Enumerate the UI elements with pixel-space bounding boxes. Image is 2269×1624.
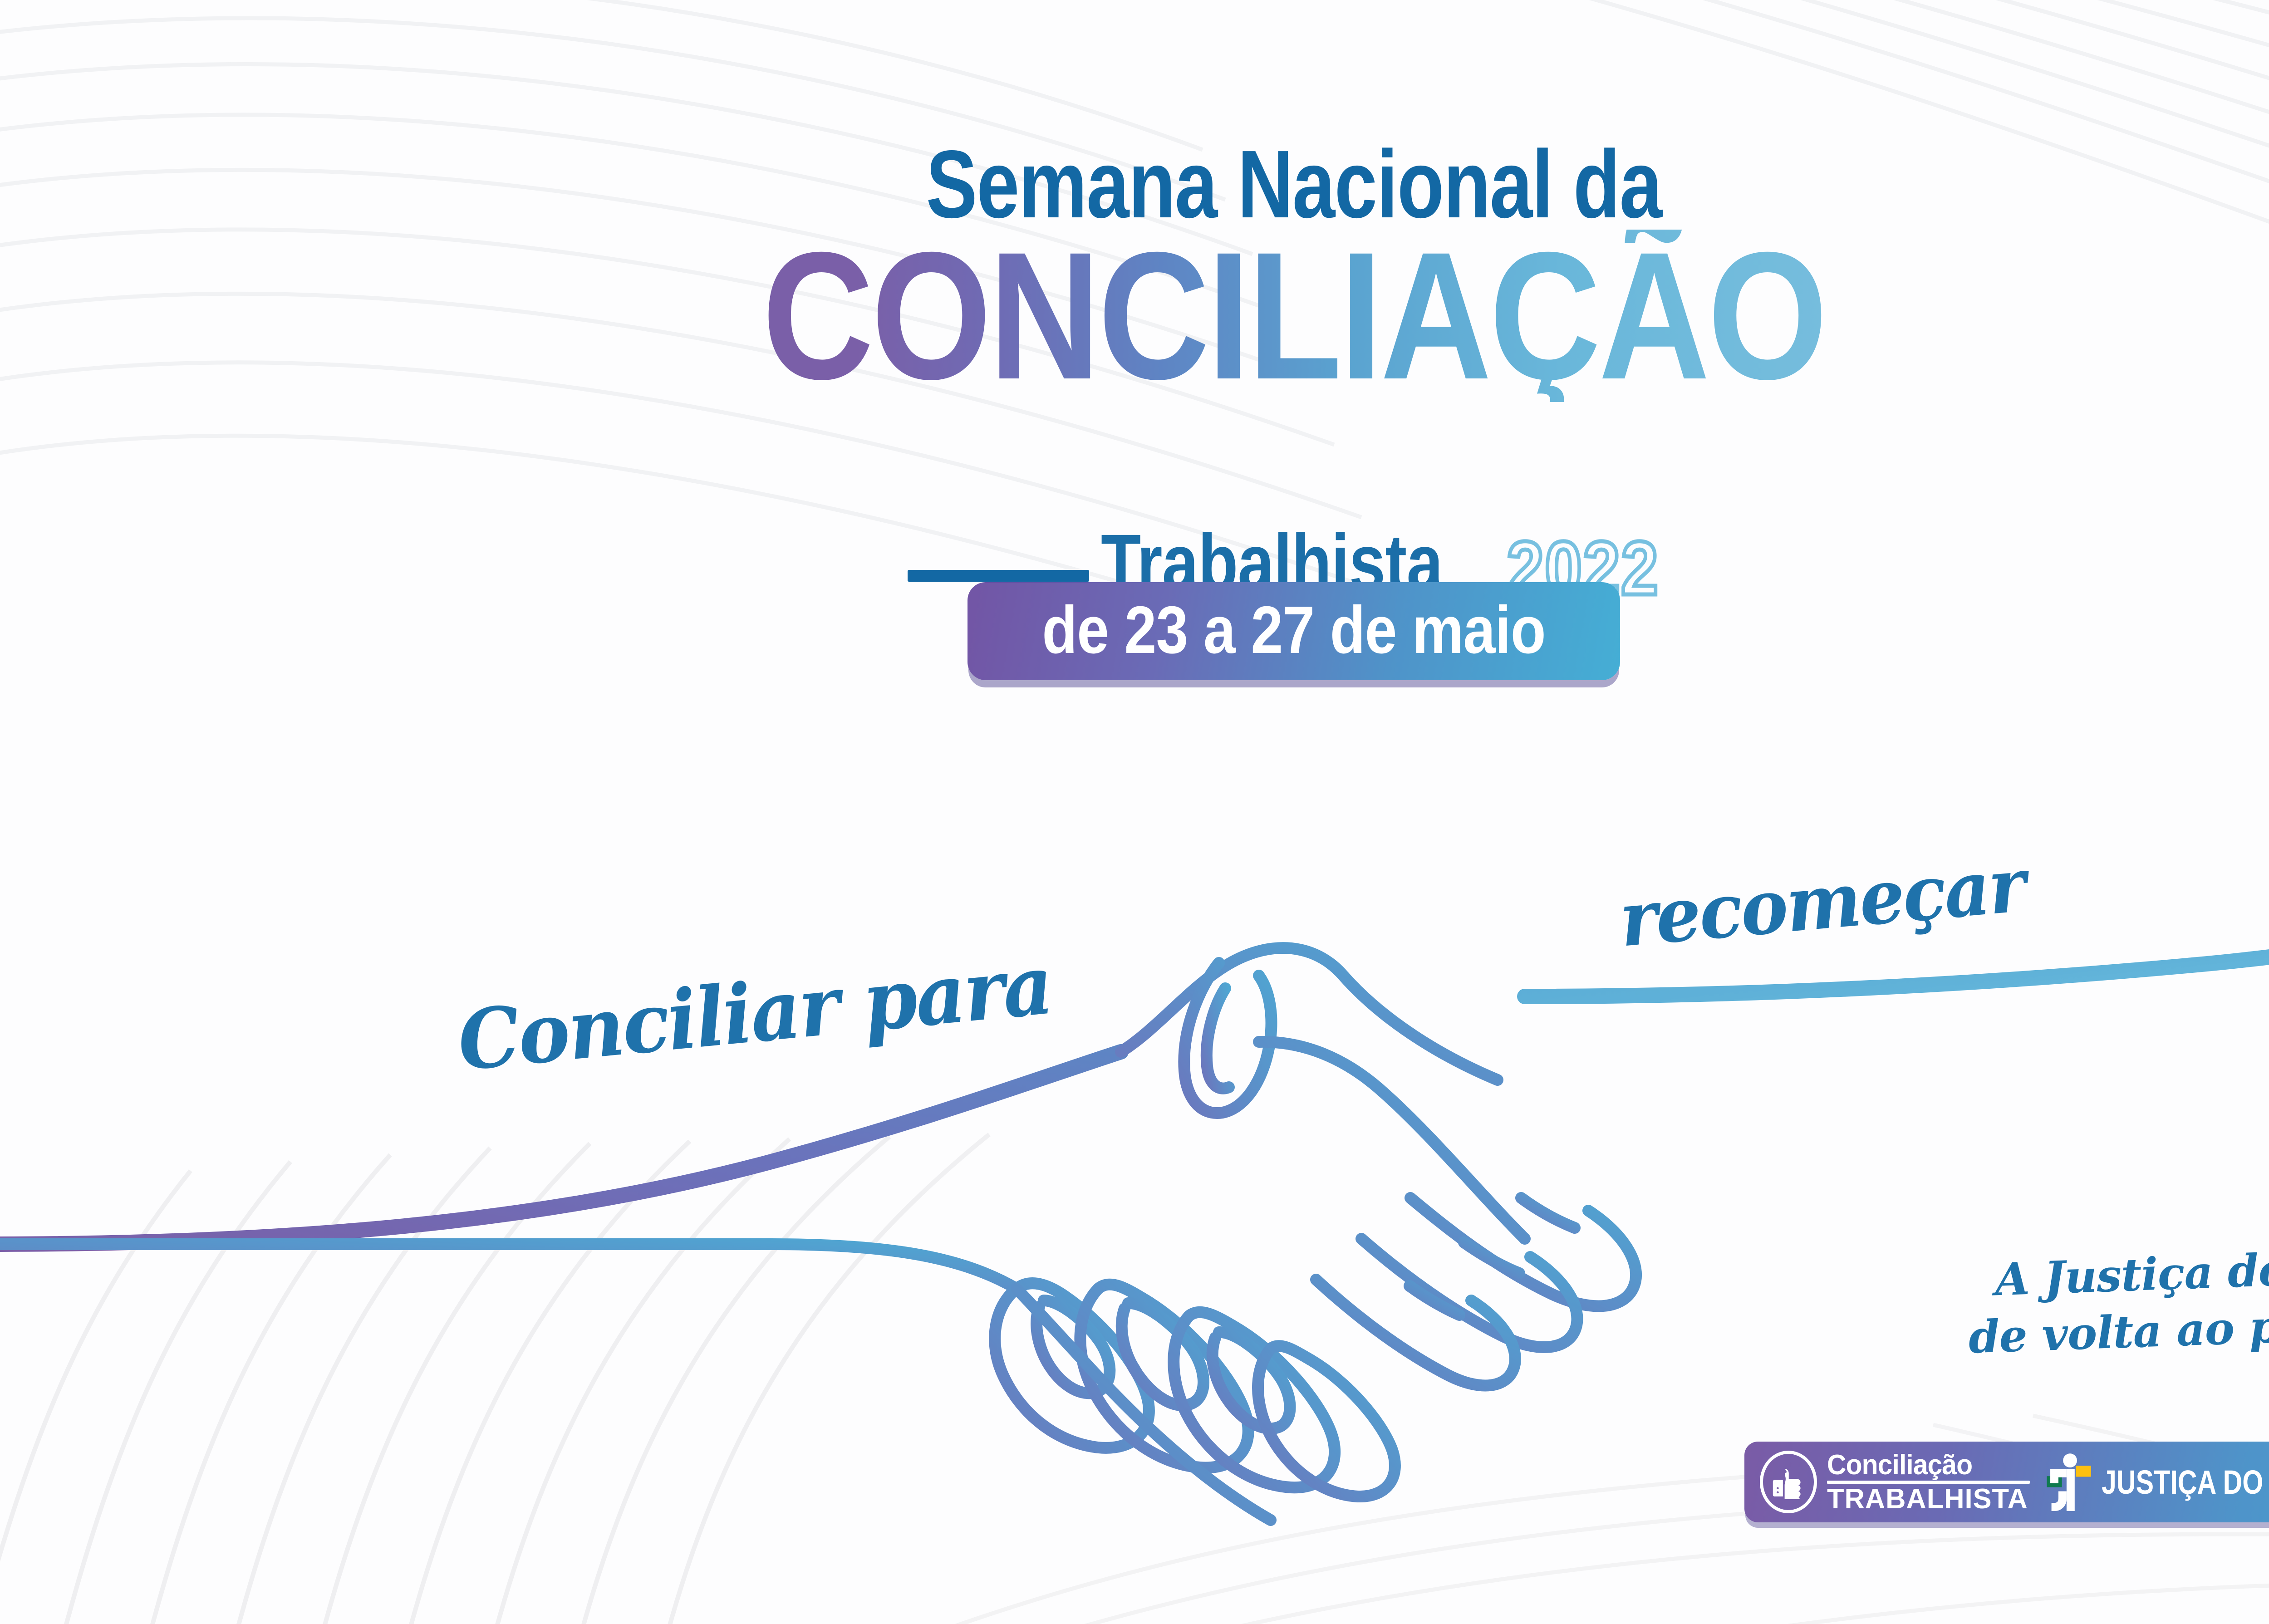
left-purple-ribbon (0, 1052, 1121, 1244)
date-pill-label: de 23 a 27 de maio (1042, 594, 1545, 667)
edition-title: 6ª edição (1978, 1153, 2269, 1212)
title-block: Semana Nacional da CONCILIAÇÃO (0, 136, 2269, 379)
slogan-recomecar: recomeçar (1616, 841, 2028, 964)
jt-wordmark: JUSTIÇA DO TRABALHO (2102, 1463, 2269, 1501)
thumbs-up-icon (1760, 1451, 1817, 1513)
title-line-conciliacao-wrap: CONCILIAÇÃO (0, 230, 2269, 379)
edition-subtitle: A Justiça do Trabalho de volta ao presen… (1965, 1233, 2269, 1366)
justica-do-trabalho-logo[interactable]: JUSTIÇA DO TRABALHO (2045, 1453, 2269, 1511)
slogan-conciliar-para: Conciliar para (454, 937, 1056, 1089)
date-pill-wrapper: de 23 a 27 de maio (0, 582, 2269, 680)
title-dash-rule (908, 570, 1089, 582)
ct-line-trabalhista: TRABALHISTA (1827, 1486, 2028, 1512)
conciliacao-trabalhista-logo[interactable]: Conciliação TRABALHISTA (1760, 1451, 2030, 1513)
edition-block: 6ª edição A Justiça do Trabalho de volta… (1967, 1153, 2269, 1347)
conciliacao-trabalhista-wordmark: Conciliação TRABALHISTA (1827, 1452, 2030, 1512)
logo-bar[interactable]: Conciliação TRABALHISTA JUSTIÇA DO TRABA… (1744, 1442, 2269, 1522)
date-pill[interactable]: de 23 a 27 de maio (968, 582, 1620, 680)
edition-subtitle-line1: A Justiça do Trabalho (1965, 1233, 2269, 1310)
poster-canvas: Semana Nacional da CONCILIAÇÃO Trabalhis… (0, 0, 2269, 1624)
title-line-conciliacao: CONCILIAÇÃO (758, 230, 1829, 402)
ct-line-conciliacao: Conciliação (1827, 1452, 2020, 1478)
jt-running-figure-icon (2045, 1453, 2092, 1511)
